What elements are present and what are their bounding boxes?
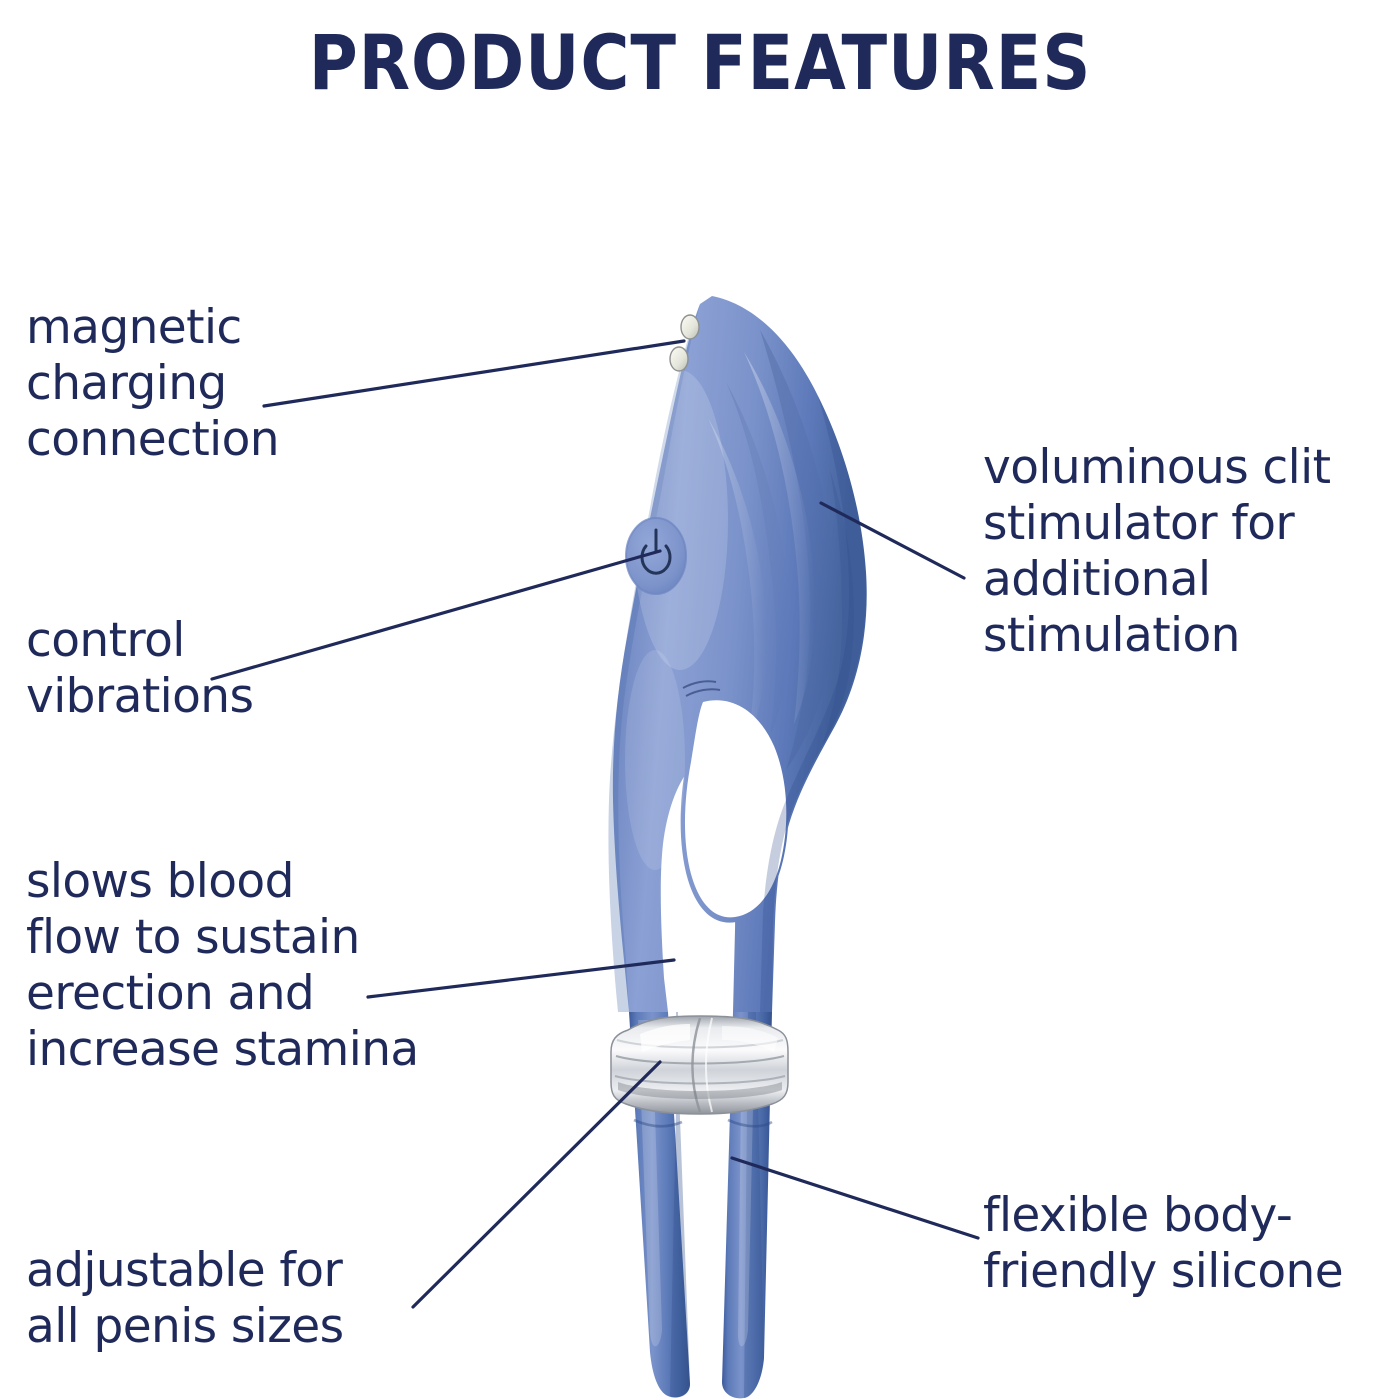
- product-body: [608, 296, 866, 1398]
- product-features-infographic: PRODUCT FEATURES: [0, 0, 1400, 1400]
- callout-magnetic-charging-connection: magnetic charging connection: [26, 300, 356, 468]
- metal-ring-clasp[interactable]: [611, 1016, 788, 1114]
- leader-flexible-silicone: [732, 1158, 978, 1238]
- leader-lines: [212, 341, 978, 1307]
- power-button[interactable]: [626, 518, 686, 594]
- callout-slows-blood-flow: slows blood flow to sustain erection and…: [26, 854, 476, 1078]
- leader-adjustable-sizes: [413, 1062, 660, 1307]
- callout-voluminous-clit-stimulator: voluminous clit stimulator for additiona…: [983, 440, 1383, 664]
- callout-control-vibrations: control vibrations: [26, 613, 356, 725]
- callout-flexible-body-friendly-silicone: flexible body- friendly silicone: [983, 1188, 1383, 1300]
- callout-adjustable-for-all-penis-sizes: adjustable for all penis sizes: [26, 1243, 426, 1355]
